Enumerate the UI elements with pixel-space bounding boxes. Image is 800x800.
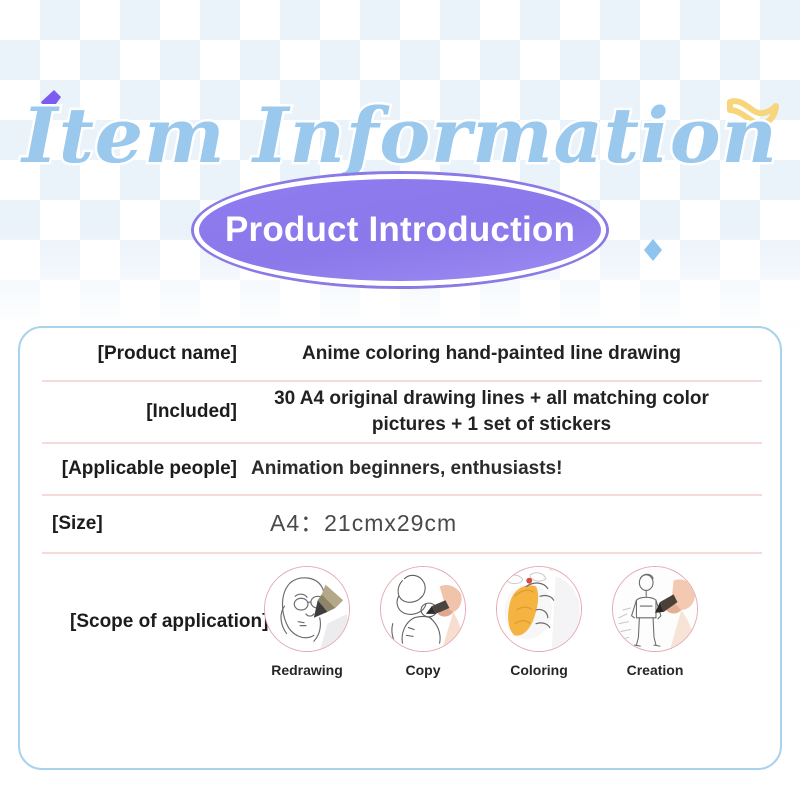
scope-caption: Redrawing — [271, 662, 343, 678]
badge-label: Product Introduction — [225, 210, 575, 250]
list-item: Creation — [606, 566, 704, 678]
scope-caption: Creation — [627, 662, 684, 678]
table-row: [Applicable people] Animation beginners,… — [42, 444, 762, 496]
spec-label-product-name: [Product name] — [42, 343, 247, 365]
table-row: [Included] 30 A4 original drawing lines … — [42, 382, 762, 444]
product-info-graphic: Item Information Item Information Produc… — [0, 0, 800, 800]
product-details-card: [Product name] Anime coloring hand-paint… — [18, 326, 782, 770]
spec-table: [Product name] Anime coloring hand-paint… — [42, 328, 762, 678]
table-row: [Size] A4：21cmx29cm — [42, 496, 762, 554]
sketch-full-body-creation-thumb — [612, 566, 698, 652]
scope-caption: Coloring — [510, 662, 568, 678]
spec-label-size: [Size] — [42, 513, 152, 535]
list-item: Coloring — [490, 566, 588, 678]
header: Item Information Item Information Produc… — [0, 96, 800, 296]
product-introduction-badge: Product Introduction — [194, 174, 606, 286]
list-item: Redrawing — [258, 566, 356, 678]
spec-label-included: [Included] — [42, 401, 247, 423]
spec-value-product-name: Anime coloring hand-painted line drawing — [247, 341, 762, 367]
table-row: [Product name] Anime coloring hand-paint… — [42, 328, 762, 382]
scope-caption: Copy — [406, 662, 441, 678]
spec-value-included: 30 A4 original drawing lines + all match… — [247, 386, 762, 438]
list-item: Copy — [374, 566, 472, 678]
spec-value-applicable-people: Animation beginners, enthusiasts! — [247, 456, 762, 482]
spec-label-applicable-people: [Applicable people] — [42, 458, 247, 480]
scope-of-application-section: [Scope of application] — [42, 554, 762, 678]
sketch-copy-trace-thumb — [380, 566, 466, 652]
script-title: Item Information — [0, 96, 800, 176]
scope-label: [Scope of application] — [42, 611, 254, 633]
sketch-coloring-hair-thumb — [496, 566, 582, 652]
scope-items: Redrawing — [254, 566, 762, 678]
spec-value-size: A4：21cmx29cm — [152, 508, 762, 540]
sketch-face-pencil-thumb — [264, 566, 350, 652]
